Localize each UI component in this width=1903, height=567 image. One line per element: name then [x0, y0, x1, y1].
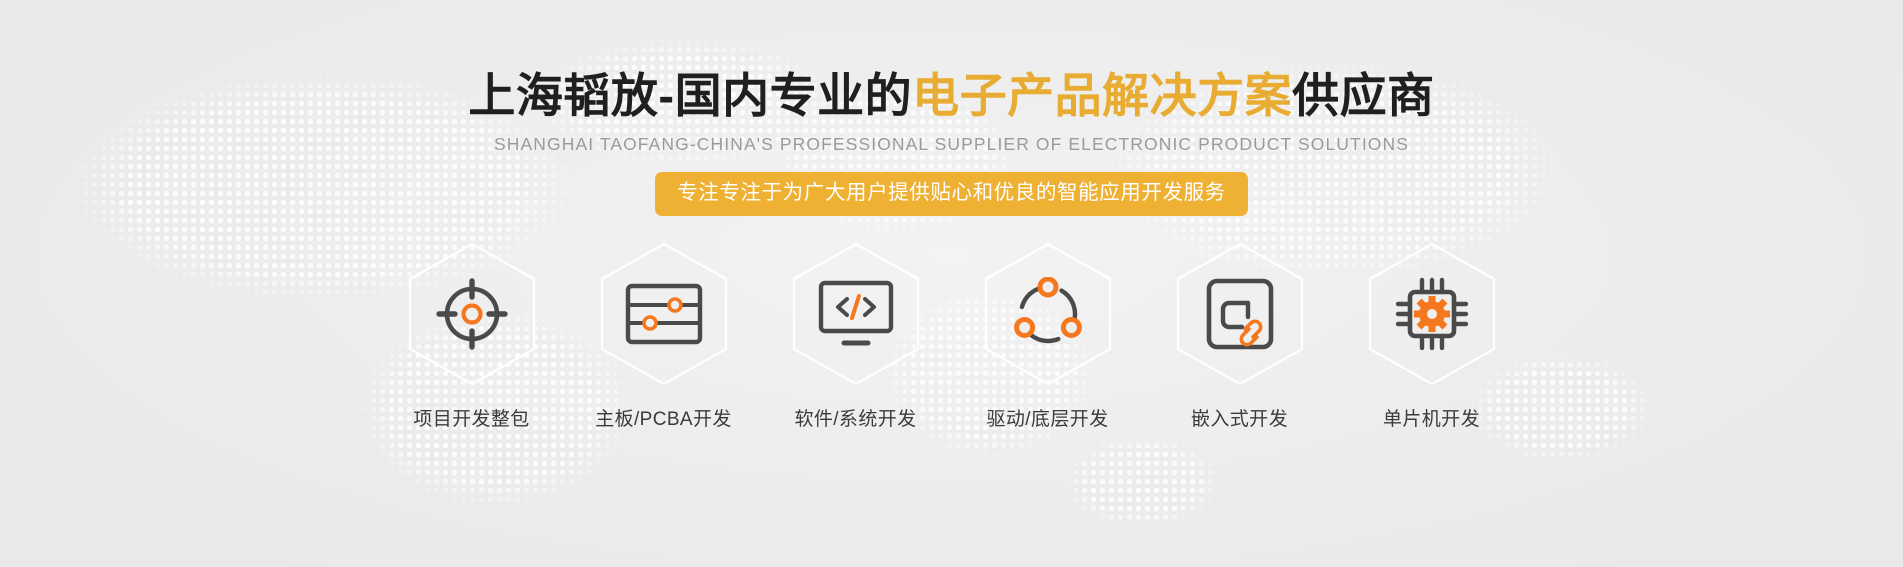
service-item-mainboard-pcba[interactable]: 主板/PCBA开发	[584, 242, 744, 431]
banner-content: 上海韬放-国内专业的电子产品解决方案供应商 SHANGHAI TAOFANG-C…	[0, 72, 1903, 431]
service-item-driver-lowlevel[interactable]: 驱动/底层开发	[968, 242, 1128, 431]
service-label: 驱动/底层开发	[986, 404, 1108, 431]
headline-tail-text: 供应商	[1292, 69, 1435, 122]
microcontroller-gear-icon	[1368, 242, 1496, 386]
tagline-badge: 专注专注于为广大用户提供贴心和优良的智能应用开发服务	[655, 172, 1248, 216]
hexagon-frame	[984, 242, 1112, 386]
service-item-software-system[interactable]: 软件/系统开发	[776, 242, 936, 431]
hexagon-frame	[408, 242, 536, 386]
service-label: 项目开发整包	[413, 404, 529, 431]
pcb-board-icon	[600, 242, 728, 386]
service-label: 单片机开发	[1383, 404, 1480, 431]
network-nodes-icon	[984, 242, 1112, 386]
hexagon-frame	[1176, 242, 1304, 386]
hexagon-frame	[1368, 242, 1496, 386]
target-crosshair-icon	[408, 242, 536, 386]
headline-lead-text: 上海韬放-国内专业的	[468, 69, 912, 122]
service-label: 软件/系统开发	[794, 404, 916, 431]
service-label: 主板/PCBA开发	[595, 404, 732, 431]
page-subtitle: SHANGHAI TAOFANG-CHINA'S PROFESSIONAL SU…	[0, 134, 1903, 155]
service-item-project-package[interactable]: 项目开发整包	[392, 242, 552, 431]
service-list: 项目开发整包	[0, 242, 1903, 431]
service-item-embedded[interactable]: 嵌入式开发	[1160, 242, 1320, 431]
service-label: 嵌入式开发	[1191, 404, 1288, 431]
hexagon-frame	[600, 242, 728, 386]
service-item-mcu[interactable]: 单片机开发	[1352, 242, 1512, 431]
tagline-container: 专注专注于为广大用户提供贴心和优良的智能应用开发服务	[0, 172, 1903, 216]
code-monitor-icon	[792, 242, 920, 386]
hexagon-frame	[792, 242, 920, 386]
headline-accent-text: 电子产品解决方案	[912, 69, 1292, 122]
embedded-chip-link-icon	[1176, 242, 1304, 386]
page-title: 上海韬放-国内专业的电子产品解决方案供应商	[0, 72, 1903, 119]
hero-banner: 上海韬放-国内专业的电子产品解决方案供应商 SHANGHAI TAOFANG-C…	[0, 0, 1903, 567]
